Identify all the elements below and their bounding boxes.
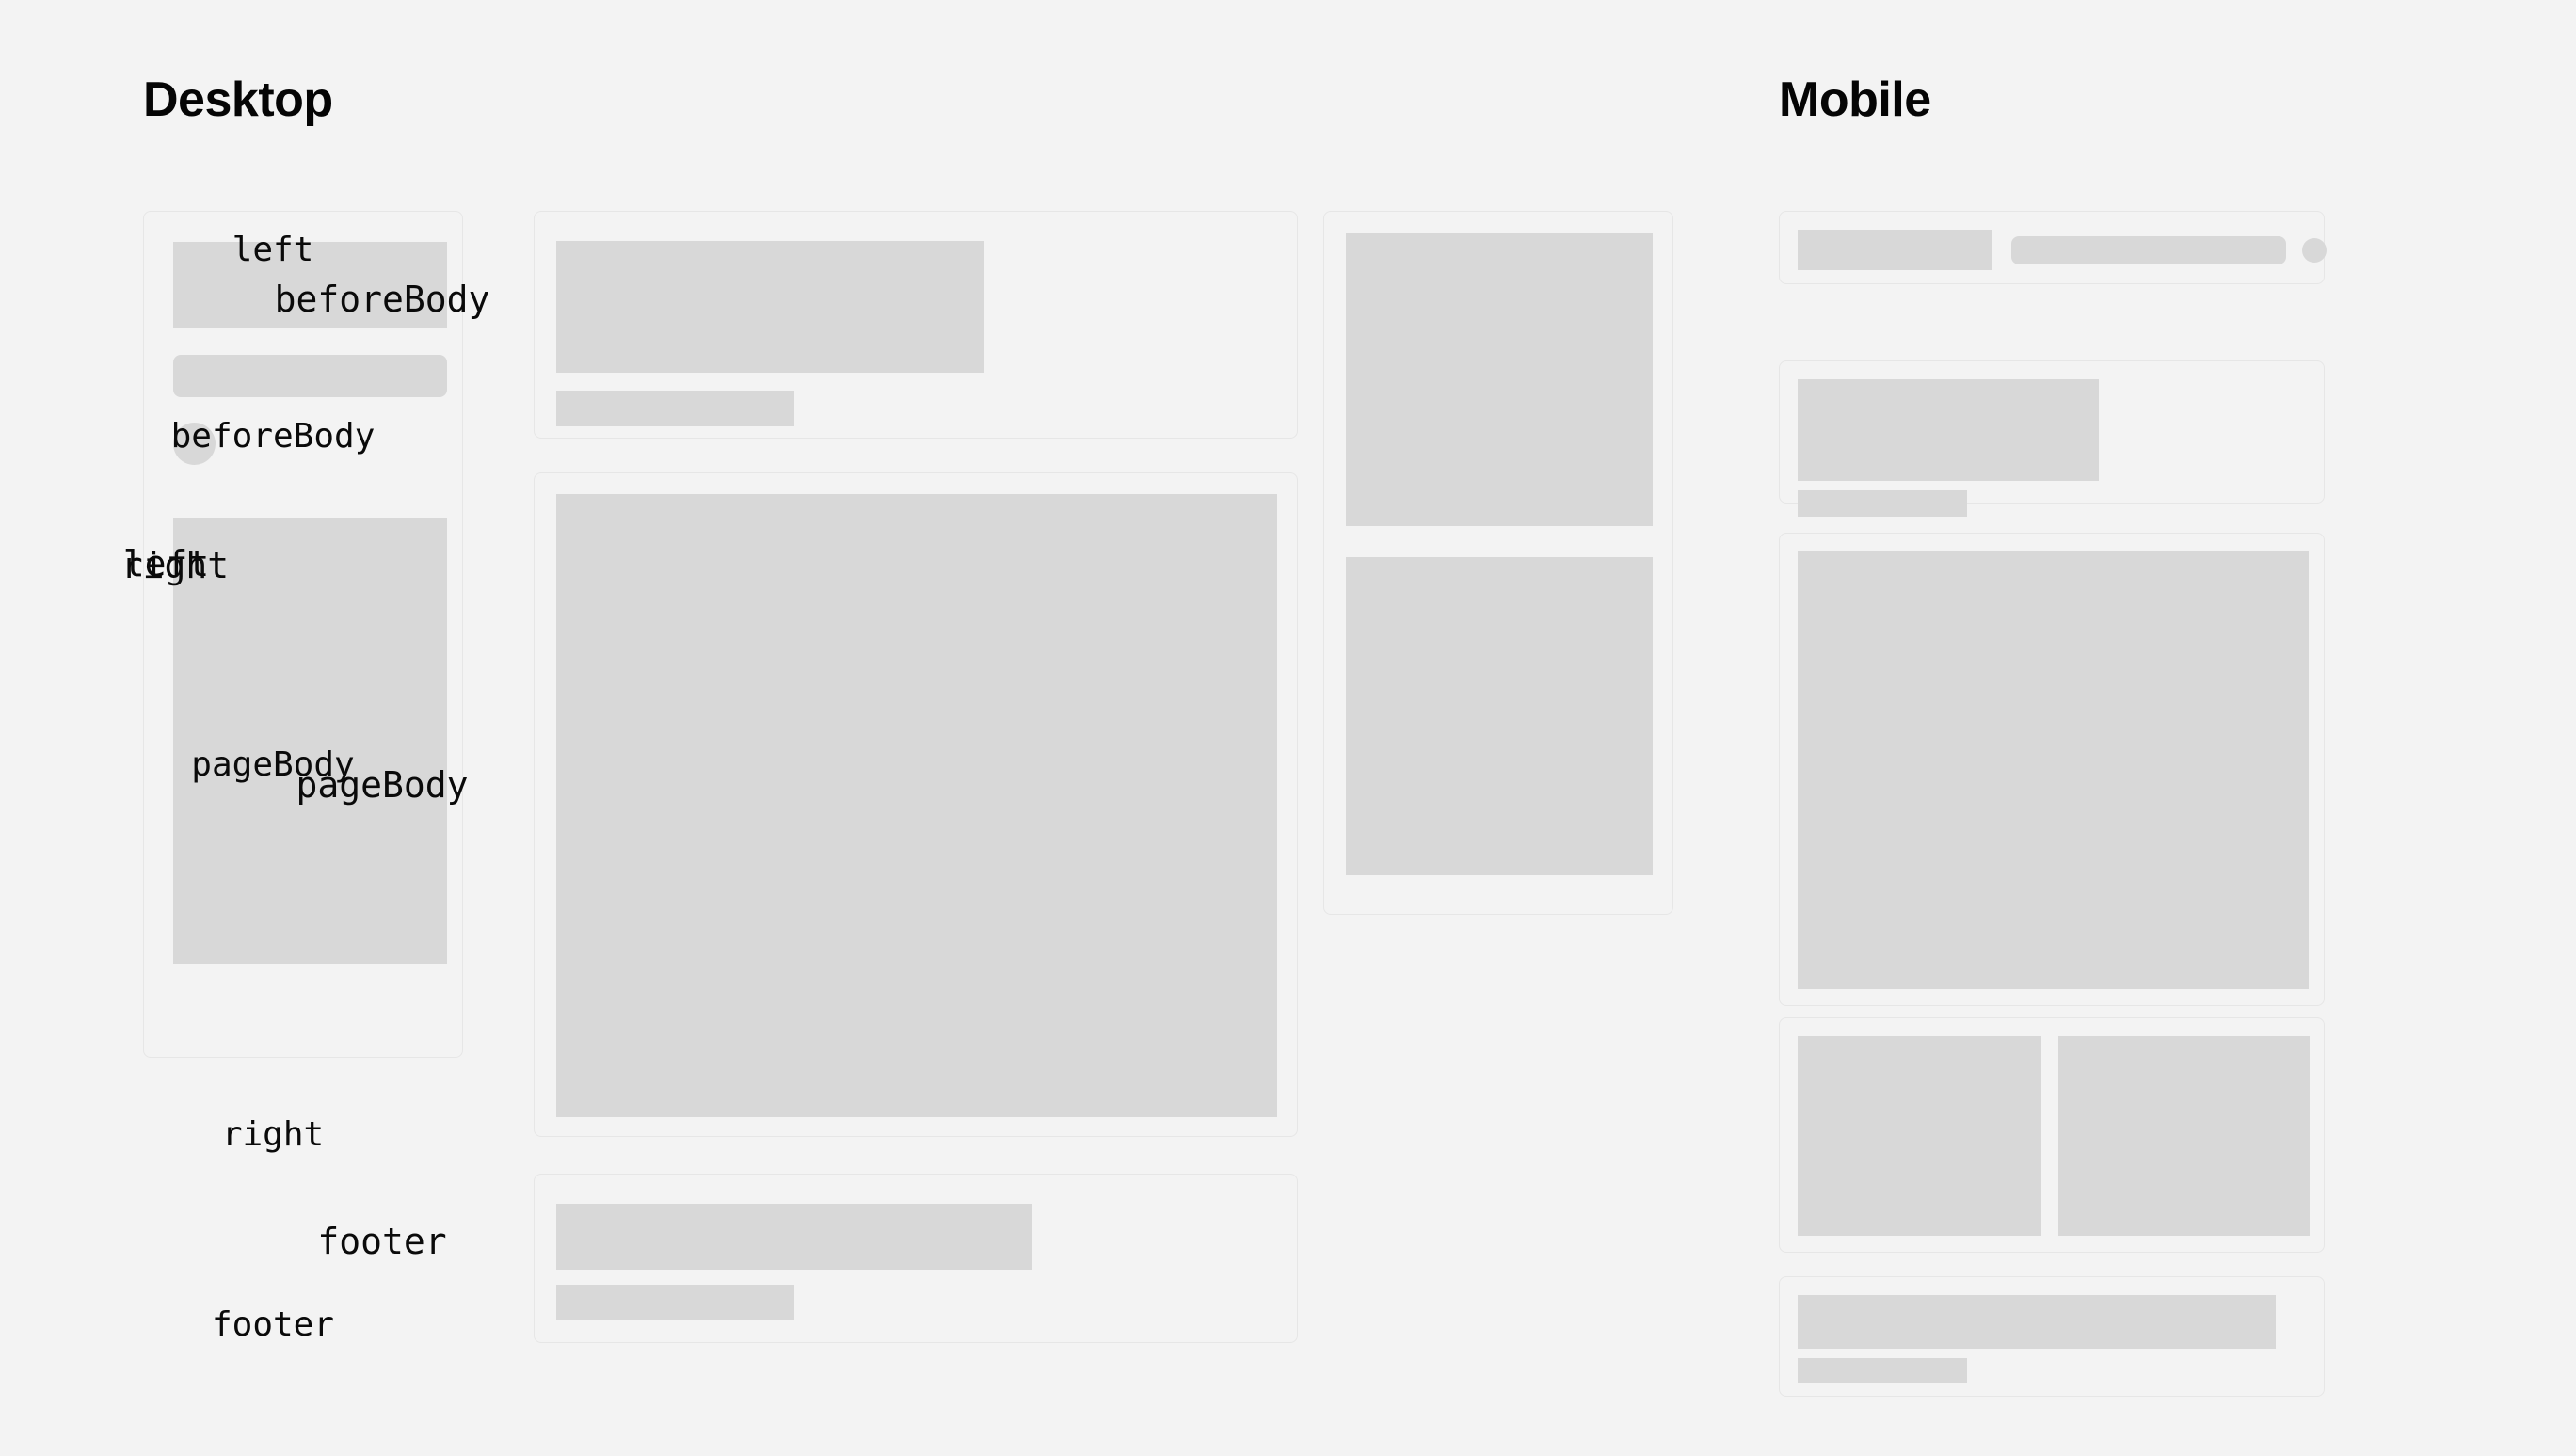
skeleton-avatar-icon xyxy=(173,423,216,465)
skeleton-block xyxy=(173,242,447,328)
desktop-section-title: Desktop xyxy=(143,72,333,128)
skeleton-block xyxy=(556,1204,1032,1270)
skeleton-bar xyxy=(556,391,794,426)
skeleton-block xyxy=(556,494,1277,1117)
desktop-region-pagebody[interactable] xyxy=(534,472,1298,1137)
skeleton-block xyxy=(556,241,984,373)
mobile-region-left[interactable] xyxy=(1779,211,2325,284)
skeleton-block xyxy=(1798,230,1992,270)
skeleton-block xyxy=(1346,557,1653,875)
skeleton-bar xyxy=(2011,236,2286,264)
mobile-region-pagebody[interactable] xyxy=(1779,533,2325,1006)
mobile-region-footer[interactable] xyxy=(1779,1276,2325,1397)
desktop-region-left[interactable] xyxy=(143,211,463,1058)
skeleton-panel xyxy=(173,518,447,964)
skeleton-block xyxy=(2058,1036,2310,1236)
skeleton-block xyxy=(1798,551,2309,989)
desktop-region-right[interactable] xyxy=(1323,211,1673,915)
skeleton-bar xyxy=(556,1285,794,1320)
mobile-section-title: Mobile xyxy=(1779,72,1931,128)
desktop-region-beforebody[interactable] xyxy=(534,211,1298,439)
skeleton-bar xyxy=(1798,1358,1967,1383)
skeleton-block xyxy=(1798,1295,2276,1349)
mobile-region-beforebody[interactable] xyxy=(1779,360,2325,504)
skeleton-block xyxy=(1346,233,1653,526)
mobile-region-right[interactable] xyxy=(1779,1017,2325,1253)
desktop-region-footer[interactable] xyxy=(534,1174,1298,1343)
skeleton-block xyxy=(1798,1036,2041,1236)
skeleton-block xyxy=(1798,379,2099,481)
mobile-region-label-footer: footer xyxy=(0,1305,546,1344)
skeleton-bar xyxy=(1798,490,1967,517)
skeleton-avatar-icon xyxy=(2302,238,2327,263)
mobile-region-label-right: right xyxy=(0,1115,546,1154)
layout-preview-stage: Desktop left beforeBody pageBody footer … xyxy=(0,0,2576,1456)
skeleton-bar xyxy=(173,355,447,397)
